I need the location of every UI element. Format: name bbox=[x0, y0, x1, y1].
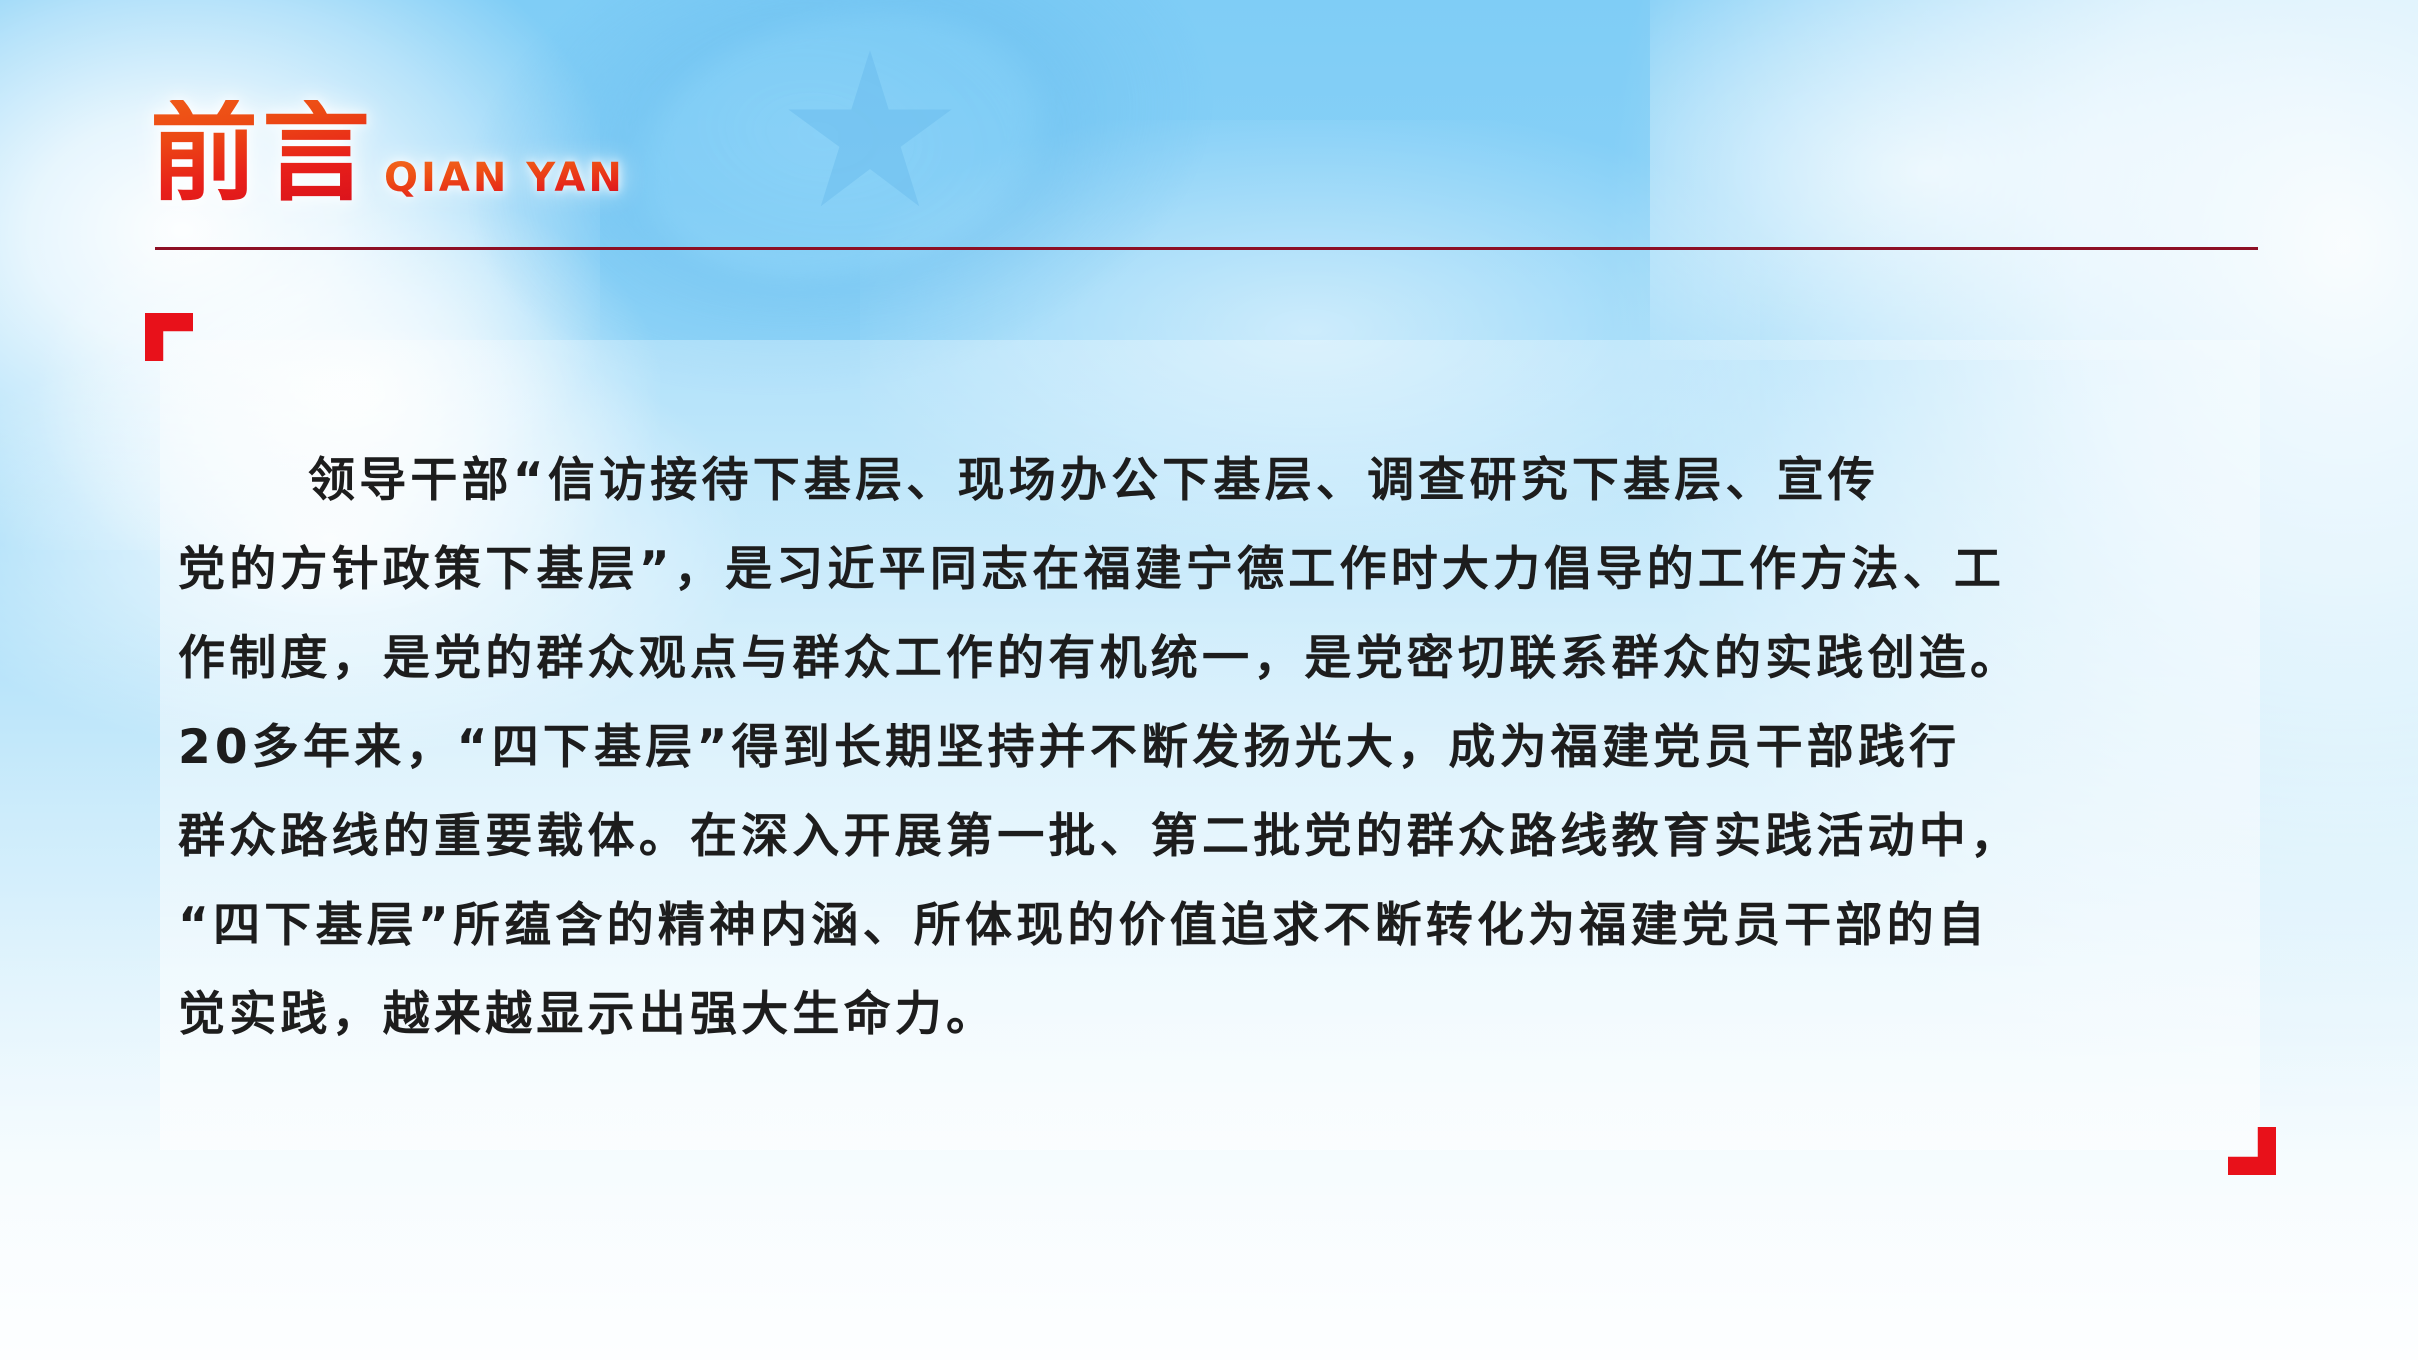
foreword-paragraph: 领导干部“信访接待下基层、现场办公下基层、调查研究下基层、宣传 党的方针政策下基… bbox=[178, 436, 2248, 1059]
paragraph-line: “四下基层”所蕴含的精神内涵、所体现的价值追求不断转化为福建党员干部的自 bbox=[178, 881, 2248, 970]
paragraph-line: 领导干部“信访接待下基层、现场办公下基层、调查研究下基层、宣传 bbox=[178, 436, 2248, 525]
paragraph-line: 觉实践，越来越显示出强大生命力。 bbox=[178, 970, 2248, 1059]
page-title-pinyin: QIAN YAN bbox=[384, 158, 625, 198]
paragraph-line: 党的方针政策下基层”，是习近平同志在福建宁德工作时大力倡导的工作方法、工 bbox=[178, 525, 2248, 614]
slide-root: 前言 QIAN YAN 领导干部“信访接待下基层、现场办公下基层、调查研究下基层… bbox=[0, 0, 2418, 1360]
paragraph-line: 群众路线的重要载体。在深入开展第一批、第二批党的群众路线教育实践活动中， bbox=[178, 792, 2248, 881]
paragraph-line: 作制度，是党的群众观点与群众工作的有机统一，是党密切联系群众的实践创造。 bbox=[178, 614, 2248, 703]
header-divider bbox=[155, 247, 2258, 250]
paragraph-line: 20多年来，“四下基层”得到长期坚持并不断发扬光大，成为福建党员干部践行 bbox=[178, 703, 2248, 792]
page-title: 前言 bbox=[150, 100, 374, 208]
page-header: 前言 QIAN YAN bbox=[150, 88, 625, 208]
